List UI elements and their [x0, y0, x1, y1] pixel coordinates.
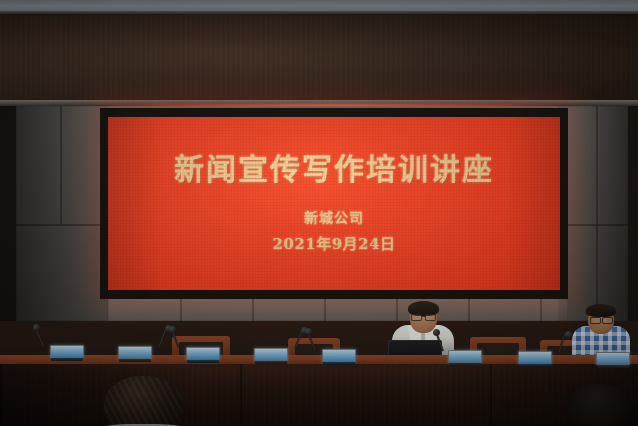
- wall-seam: [596, 106, 598, 321]
- led-edge-shading: [108, 117, 560, 290]
- led-pixel-texture: [108, 117, 560, 290]
- delegate-unit: [596, 350, 630, 365]
- upper-wood-panel: [0, 14, 638, 106]
- slide-subtitle: 新城公司: [108, 208, 560, 228]
- desk-wood-grain: [0, 364, 638, 426]
- nameplate-display: [518, 351, 552, 364]
- delegate-unit: [186, 345, 220, 360]
- nameplate-display: [322, 349, 356, 362]
- nameplate-display: [448, 350, 482, 363]
- delegate-unit: [118, 344, 152, 359]
- wall-panel: [16, 106, 108, 321]
- slide-title: 新闻宣传写作培训讲座: [108, 145, 560, 189]
- nameplate-display: [596, 352, 630, 365]
- glasses-icon: [411, 314, 436, 319]
- delegate-unit: [518, 349, 552, 364]
- nameplate-display: [254, 348, 288, 361]
- audience-member-left: [104, 376, 182, 426]
- audience-member-right: [566, 384, 632, 426]
- nameplate-display: [118, 346, 152, 359]
- led-screen: 新闻宣传写作培训讲座 新城公司 2021年9月24日: [108, 117, 560, 290]
- conference-desk-front: [0, 364, 638, 426]
- wall-seam: [16, 224, 108, 226]
- delegate-unit: [50, 343, 84, 358]
- wall-edge-right: [628, 106, 638, 321]
- nameplate-display: [50, 345, 84, 358]
- conference-room-photo: 新闻宣传写作培训讲座 新城公司 2021年9月24日: [0, 0, 638, 426]
- wall-edge-left: [0, 106, 16, 321]
- hair-texture: [104, 376, 182, 426]
- delegate-unit: [448, 348, 482, 363]
- wall-seam: [60, 106, 62, 224]
- delegate-unit: [322, 347, 356, 362]
- led-sheen: [108, 117, 560, 290]
- glasses-icon: [590, 317, 613, 322]
- nameplate-display: [186, 347, 220, 360]
- slide-date: 2021年9月24日: [108, 233, 560, 254]
- panelist-hair: [586, 304, 616, 317]
- wood-vignette: [0, 14, 638, 106]
- delegate-unit: [254, 346, 288, 361]
